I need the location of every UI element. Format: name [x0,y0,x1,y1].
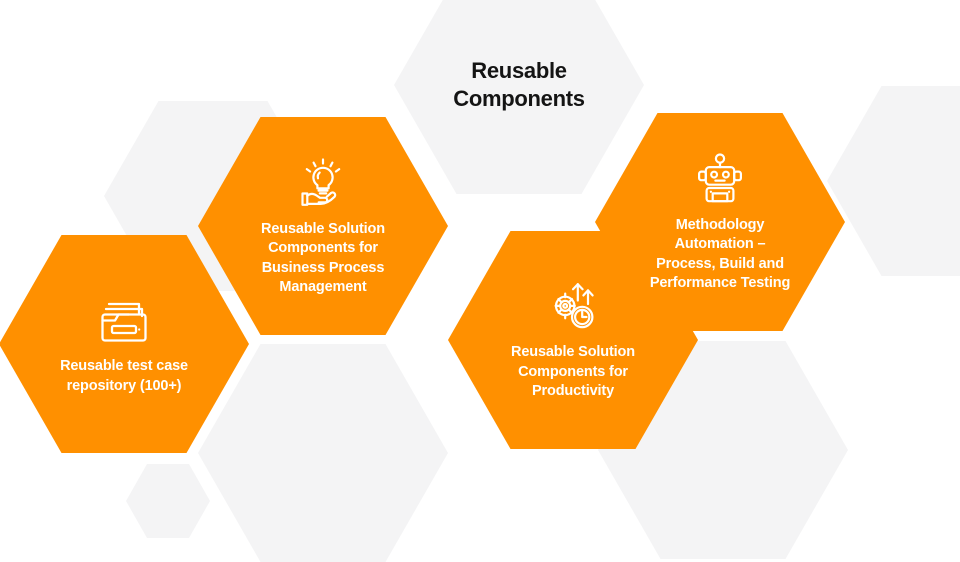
infographic-canvas: Reusable Components Reusable test case r… [0,0,960,562]
hexagon-label: Reusable test case repository (100+) [60,357,188,396]
decorative-hexagon-top-right [827,86,960,276]
decorative-hexagon-small-bottom-left [126,464,210,538]
hexagon-label: Reusable Solution Components for Product… [511,343,635,401]
lightbulb-in-hand-icon [295,155,351,211]
decorative-hexagon-bottom-center [198,344,448,562]
hexagon-label: Reusable Solution Components for Busines… [261,220,385,298]
robot-icon [693,151,747,207]
archive-folder-icon [95,292,153,348]
page-title: Reusable Components [453,57,584,113]
title-hexagon: Reusable Components [394,0,644,194]
gear-clock-arrows-icon [544,278,602,334]
hexagon-label: Methodology Automation – Process, Build … [650,216,790,294]
